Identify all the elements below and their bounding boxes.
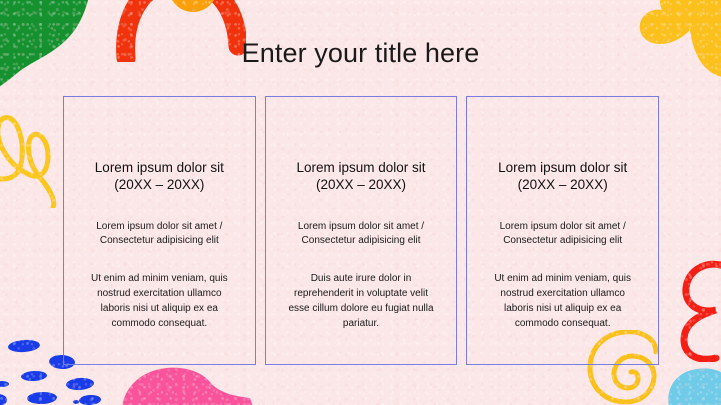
- content-card-2[interactable]: Lorem ipsum dolor sit (20XX – 20XX) Lore…: [265, 96, 458, 365]
- card-1-subtitle: Lorem ipsum dolor sit amet / Consectetur…: [96, 220, 222, 249]
- content-card-3[interactable]: Lorem ipsum dolor sit (20XX – 20XX) Lore…: [466, 96, 659, 365]
- card-2-heading: Lorem ipsum dolor sit (20XX – 20XX): [296, 159, 425, 194]
- yellow-loop-squiggle-left-icon: [0, 104, 66, 208]
- card-3-heading: Lorem ipsum dolor sit (20XX – 20XX): [498, 159, 627, 194]
- card-1-heading: Lorem ipsum dolor sit (20XX – 20XX): [95, 159, 224, 194]
- pink-blob-bottom-icon: [104, 360, 254, 405]
- three-column-layout: Lorem ipsum dolor sit (20XX – 20XX) Lore…: [63, 96, 659, 365]
- card-3-body: Ut enim ad minim veniam, quis nostrud ex…: [494, 271, 631, 331]
- content-card-1[interactable]: Lorem ipsum dolor sit (20XX – 20XX) Lore…: [63, 96, 256, 365]
- slide-canvas: Enter your title here Lorem ipsum dolor …: [0, 0, 721, 405]
- orange-circle-top-icon: [162, 0, 224, 28]
- card-2-body: Duis aute irure dolor in reprehenderit i…: [288, 271, 433, 331]
- card-1-body: Ut enim ad minim veniam, quis nostrud ex…: [91, 271, 228, 331]
- lightblue-blob-bottom-right-icon: [664, 362, 721, 405]
- card-2-subtitle: Lorem ipsum dolor sit amet / Consectetur…: [298, 220, 424, 249]
- card-3-subtitle: Lorem ipsum dolor sit amet / Consectetur…: [500, 220, 626, 249]
- red-loop-squiggle-right-icon: [672, 256, 721, 362]
- page-title: Enter your title here: [0, 38, 721, 69]
